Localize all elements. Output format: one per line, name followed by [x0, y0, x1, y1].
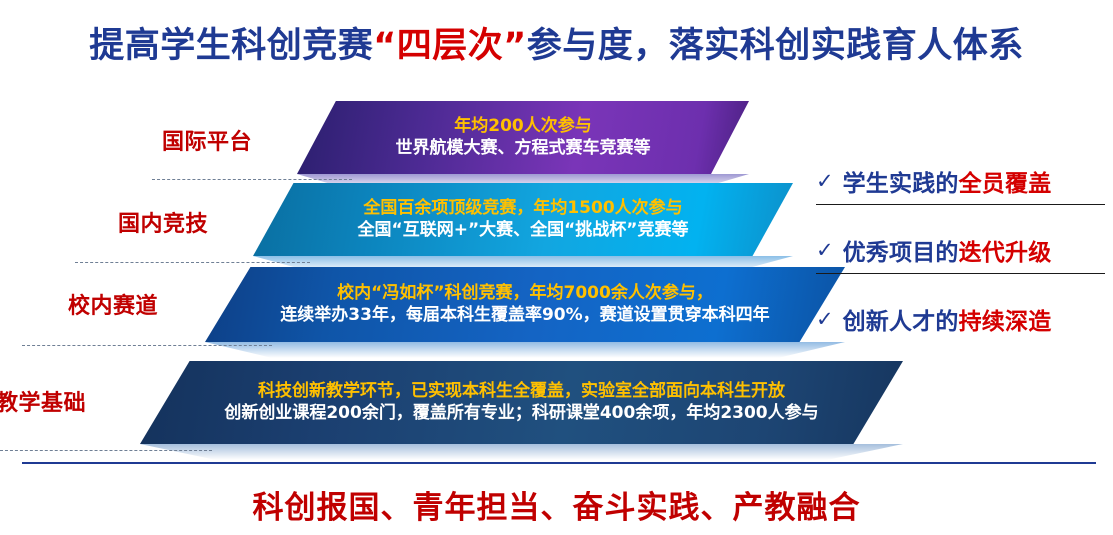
tier-3-reflection: [205, 342, 845, 358]
tier-label-foundation: 教学基础: [0, 385, 86, 417]
page-title: 提高学生科创竞赛“四层次”参与度，落实科创实践育人体系: [0, 26, 1113, 66]
slide-canvas: 提高学生科创竞赛“四层次”参与度，落实科创实践育人体系 年均200人次参与 世界…: [0, 0, 1113, 535]
outcome-divider-1: [816, 204, 1105, 205]
tier-4-reflection: [140, 444, 903, 460]
title-emphasis: “四层次”: [373, 26, 527, 66]
outcome-divider-2: [816, 273, 1105, 274]
tier-3-line-1: 校内“冯如杯”科创竞赛，年均7000余人次参与，: [337, 283, 713, 304]
tier-1-line-2: 世界航模大赛、方程式赛车竞赛等: [396, 138, 651, 159]
tier-1-line-1: 年均200人次参与: [454, 116, 592, 137]
pyramid-tier-international: 年均200人次参与 世界航模大赛、方程式赛车竞赛等: [297, 101, 749, 174]
footer-slogan: 科创报国、青年担当、奋斗实践、产教融合: [0, 482, 1113, 527]
tier-3-line-2: 连续举办33年，每届本科生覆盖率90%，赛道设置贯穿本科四年: [280, 305, 769, 326]
outcome-1-emphasis: 全员覆盖: [959, 171, 1052, 197]
tier-4-line-1: 科技创新教学环节，已实现本科生全覆盖，实验室全部面向本科生开放: [258, 381, 785, 402]
outcome-1-prefix: 学生实践的: [843, 171, 959, 197]
pyramid-tier-foundation: 科技创新教学环节，已实现本科生全覆盖，实验室全部面向本科生开放 创新创业课程20…: [140, 361, 903, 444]
title-part-1: 提高学生科创竞赛: [89, 26, 373, 66]
tier-label-international: 国际平台: [162, 124, 252, 156]
outcome-3-prefix: 创新人才的: [843, 309, 959, 335]
outcome-item-3: ✓ 创新人才的持续深造: [816, 298, 1113, 340]
outcomes-list: ✓ 学生实践的全员覆盖 ✓ 优秀项目的迭代升级 ✓ 创新人才的持续深造: [816, 160, 1113, 340]
tier-label-campus: 校内赛道: [68, 288, 158, 320]
outcome-item-1-text: 学生实践的全员覆盖: [843, 164, 1052, 198]
tier-divider-1: [152, 179, 352, 180]
outcome-item-3-text: 创新人才的持续深造: [843, 302, 1052, 336]
tier-4-line-2: 创新创业课程200余门，覆盖所有专业；科研课堂400余项，年均2300人参与: [224, 403, 818, 424]
check-icon: ✓: [816, 171, 834, 192]
outcome-spacer-1: [816, 207, 1113, 229]
pyramid-tier-campus: 校内“冯如杯”科创竞赛，年均7000余人次参与， 连续举办33年，每届本科生覆盖…: [205, 267, 845, 342]
outcome-item-2: ✓ 优秀项目的迭代升级: [816, 229, 1113, 271]
title-part-2: 参与度，落实科创实践育人体系: [527, 26, 1024, 66]
check-icon: ✓: [816, 240, 834, 261]
outcome-2-emphasis: 迭代升级: [959, 240, 1052, 266]
footer-divider: [22, 462, 1096, 464]
tier-2-line-1: 全国百余项顶级竞赛，年均1500人次参与: [363, 198, 682, 219]
tier-divider-3: [22, 345, 272, 346]
tier-divider-4: [0, 450, 212, 451]
check-icon: ✓: [816, 309, 834, 330]
outcome-2-prefix: 优秀项目的: [843, 240, 959, 266]
outcome-item-1: ✓ 学生实践的全员覆盖: [816, 160, 1113, 202]
tier-label-domestic: 国内竞技: [118, 206, 208, 238]
outcome-item-2-text: 优秀项目的迭代升级: [843, 233, 1052, 267]
pyramid-tier-domestic: 全国百余项顶级竞赛，年均1500人次参与 全国“互联网+”大赛、全国“挑战杯”竞…: [253, 183, 793, 256]
outcome-3-emphasis: 持续深造: [959, 309, 1052, 335]
tier-2-line-2: 全国“互联网+”大赛、全国“挑战杯”竞赛等: [358, 220, 689, 241]
outcome-spacer-2: [816, 276, 1113, 298]
tier-divider-2: [75, 262, 310, 263]
